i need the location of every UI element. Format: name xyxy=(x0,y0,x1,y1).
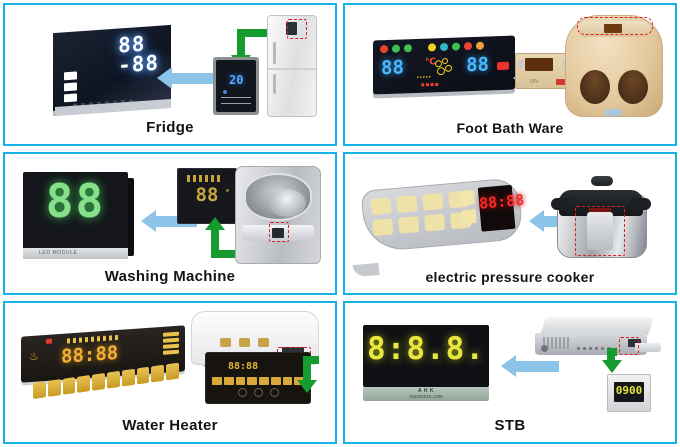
washing-machine-panel-closeup: 88 xyxy=(177,168,237,224)
install-marker xyxy=(269,222,289,242)
washing-machine-module-base: LED MODULE xyxy=(23,248,128,259)
foot-bath-led-module: 88 ℃ 88 ▪▪▪▪▪ ■■■■ xyxy=(373,36,515,95)
foot-bath-digits-right: 88 xyxy=(466,55,489,75)
fridge-stage: 88 -88 20 xyxy=(5,5,335,120)
foot-bath-indicator xyxy=(497,62,509,70)
water-heater-side-bars xyxy=(163,332,179,355)
fridge-led-module: 88 -88 xyxy=(53,25,171,111)
panel-foot-bath-ware[interactable]: 88 ℃ 88 ▪▪▪▪▪ ■■■■ xyxy=(343,3,677,146)
module-base-label: LED MODULE xyxy=(39,250,78,256)
foot-bath-sub-label: ■■■■ xyxy=(421,82,440,89)
blue-left-arrow-icon xyxy=(157,67,215,89)
foot-bath-stage: 88 ℃ 88 ▪▪▪▪▪ ■■■■ xyxy=(345,5,675,121)
panel-water-heater[interactable]: ♨ 88:88 88:88 xyxy=(3,301,337,444)
stb-led-module: 8:8.8. xyxy=(363,325,489,387)
panel-caption-fridge: Fridge xyxy=(146,120,194,144)
foot-bath-panel-closeup: \/\/\/ xyxy=(515,53,571,89)
washing-machine-digits: 88 xyxy=(23,178,128,224)
stb-pcb-sublabel: SMZ52819 1209 xyxy=(363,394,489,399)
panel-caption-foot-bath-ware: Foot Bath Ware xyxy=(456,121,563,144)
pressure-cooker-keypad-module: 88:88 xyxy=(361,177,524,253)
panel-stb[interactable]: 8:8.8. A H K SMZ52819 1209 xyxy=(343,301,677,444)
panel-fridge[interactable]: 88 -88 20 xyxy=(3,3,337,146)
pressure-cooker-digits: 88:88 xyxy=(478,193,513,212)
keypad-buttons-group-1 xyxy=(370,191,471,236)
install-marker xyxy=(575,206,625,256)
flame-icon: ♨ xyxy=(29,349,39,363)
install-marker xyxy=(577,17,653,35)
panel-electric-pressure-cooker[interactable]: 88:88 electric pressure cooker xyxy=(343,152,677,295)
application-grid: 88 -88 20 xyxy=(0,0,680,447)
fridge-module-digits: 88 -88 xyxy=(118,34,159,77)
bubble-icon xyxy=(433,57,459,80)
washing-machine-appliance xyxy=(235,166,321,264)
panel-washing-machine[interactable]: 88 LED MODULE 88 xyxy=(3,152,337,295)
panel-caption-stb: STB xyxy=(495,418,526,442)
water-heater-digits: 88:88 xyxy=(61,344,118,367)
pressure-cooker-display: 88:88 xyxy=(478,185,516,232)
fridge-module-keys xyxy=(64,71,77,102)
panel-caption-water-heater: Water Heater xyxy=(122,418,218,442)
washing-machine-stage: 88 LED MODULE 88 xyxy=(5,154,335,269)
green-down-arrow-icon xyxy=(601,348,623,374)
stb-stage: 8:8.8. A H K SMZ52819 1209 xyxy=(345,303,675,418)
water-heater-closeup-value: 88:88 xyxy=(228,361,258,372)
fridge-panel-closeup: 20 xyxy=(213,57,259,115)
water-heater-stage: ♨ 88:88 88:88 xyxy=(5,303,335,418)
stb-digits: 8:8.8. xyxy=(363,334,489,365)
pressure-cooker-stage: 88:88 xyxy=(345,154,675,270)
foot-bath-digits-left: 88 xyxy=(381,58,404,78)
foot-bath-sub-label2: ▪▪▪▪▪ xyxy=(417,74,432,81)
washing-machine-led-module: 88 xyxy=(23,172,128,250)
stb-panel-closeup: 0900 xyxy=(607,374,651,412)
water-heater-buttons xyxy=(33,363,179,399)
fridge-closeup-value: 20 xyxy=(229,73,243,87)
panel-caption-washing-machine: Washing Machine xyxy=(105,269,236,293)
foot-bath-icon-row xyxy=(380,42,484,54)
stb-module-pcb: A H K SMZ52819 1209 xyxy=(363,387,489,401)
water-heater-led-module: ♨ 88:88 xyxy=(21,325,185,382)
stb-closeup-value: 0900 xyxy=(614,385,644,396)
green-down-arrow-icon xyxy=(295,356,325,396)
panel-caption-electric-pressure-cooker: electric pressure cooker xyxy=(425,270,594,293)
keypad-tail xyxy=(353,263,380,277)
install-marker xyxy=(287,19,307,39)
